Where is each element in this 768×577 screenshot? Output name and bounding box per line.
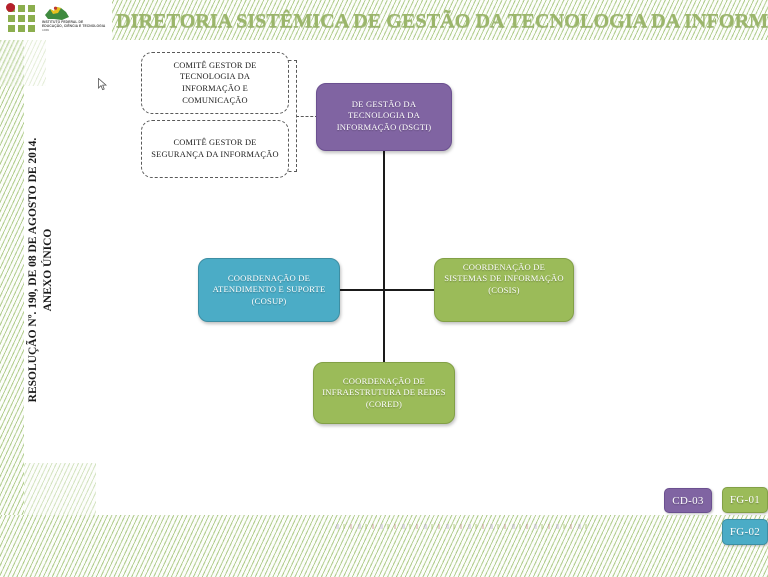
page-title: DIRETORIA SISTÊMICA DE GESTÃO DA TECNOLO…	[116, 7, 768, 35]
side-caption-line2: ANEXO ÚNICO	[41, 125, 56, 415]
node-cosup[interactable]: COORDENAÇÃO DE ATENDIMENTO E SUPORTE (CO…	[198, 258, 340, 322]
side-caption-line1: RESOLUÇÃO Nº. 190, DE 08 DE AGOSTO DE 20…	[26, 125, 41, 415]
logo: INSTITUTO FEDERAL DE EDUCAÇÃO, CIÊNCIA E…	[0, 0, 112, 40]
if-logo-grid-icon	[8, 5, 36, 35]
logo-unit: ACRE	[42, 29, 110, 33]
node-cgsi-label: COMITÊ GESTOR DE SEGURANÇA DA INFORMAÇÃO	[150, 137, 280, 160]
badge-fg-02[interactable]: FG-02	[722, 519, 768, 545]
frame-texture-left	[0, 0, 24, 577]
node-comite-gestor-tic[interactable]: COMITÊ GESTOR DE TECNOLOGIA DA INFORMAÇÃ…	[141, 52, 289, 114]
node-cored-label: COORDENAÇÃO DE INFRAESTRUTURA DE REDES (…	[320, 376, 448, 410]
node-cosis-label: COORDENAÇÃO DE SISTEMAS DE INFORMAÇÃO (C…	[441, 262, 567, 296]
edge-to-cored	[383, 290, 385, 362]
logo-text: INSTITUTO FEDERAL DE EDUCAÇÃO, CIÊNCIA E…	[42, 21, 110, 33]
bottom-artifact-strip	[336, 524, 588, 529]
mouse-cursor-icon	[98, 78, 108, 91]
node-cosup-label: COORDENAÇÃO DE ATENDIMENTO E SUPORTE (CO…	[205, 273, 333, 307]
logo-institution-line2: EDUCAÇÃO, CIÊNCIA E TECNOLOGIA	[42, 25, 110, 29]
badge-cd-03-label: CD-03	[672, 495, 703, 507]
node-comite-gestor-seguranca[interactable]: COMITÊ GESTOR DE SEGURANÇA DA INFORMAÇÃO	[141, 120, 289, 178]
frame-texture-upper-left-block	[0, 40, 46, 86]
node-cgtic-label: COMITÊ GESTOR DE TECNOLOGIA DA INFORMAÇÃ…	[150, 60, 280, 106]
frame-texture-bottom-left-block	[24, 463, 96, 515]
badge-fg-01[interactable]: FG-01	[722, 487, 768, 513]
side-caption: RESOLUÇÃO Nº. 190, DE 08 DE AGOSTO DE 20…	[26, 125, 56, 415]
node-dsgti[interactable]: DE GESTÃO DA TECNOLOGIA DA INFORMAÇÃO (D…	[316, 83, 452, 151]
edge-committee-to-dsgti	[296, 116, 318, 117]
acre-map-icon	[44, 5, 70, 21]
edge-dsgti-down	[383, 151, 385, 290]
badge-fg-01-label: FG-01	[730, 494, 760, 506]
node-cored[interactable]: COORDENAÇÃO DE INFRAESTRUTURA DE REDES (…	[313, 362, 455, 424]
badge-fg-02-label: FG-02	[730, 526, 760, 538]
node-cosis[interactable]: COORDENAÇÃO DE SISTEMAS DE INFORMAÇÃO (C…	[434, 258, 574, 322]
slide-canvas: DIRETORIA SISTÊMICA DE GESTÃO DA TECNOLO…	[0, 0, 768, 577]
node-dsgti-label: DE GESTÃO DA TECNOLOGIA DA INFORMAÇÃO (D…	[323, 99, 445, 133]
badge-cd-03[interactable]: CD-03	[664, 488, 712, 513]
